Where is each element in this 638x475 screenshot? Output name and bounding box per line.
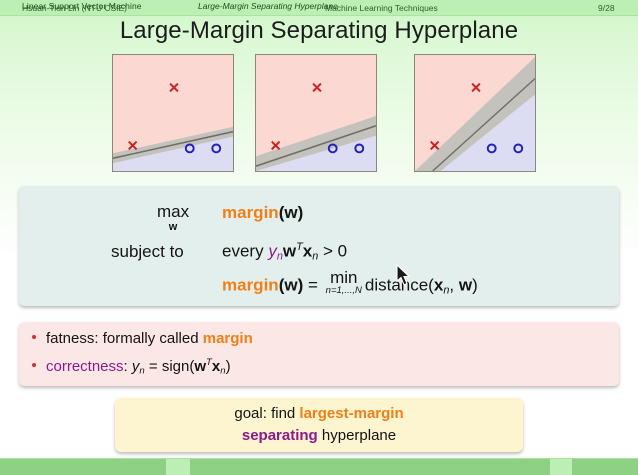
- constraint-w: w: [283, 242, 296, 261]
- correctness-close-paren: ): [226, 358, 231, 375]
- goal-highlight-largest-margin: largest-margin: [299, 405, 403, 422]
- constraint-label: subject to: [111, 242, 184, 262]
- page-title: Large-Margin Separating Hyperplane: [0, 17, 638, 45]
- constraint-x-sub: n: [312, 250, 318, 262]
- margin-def-arg-w: w: [284, 275, 297, 294]
- bullet-dot-icon: [32, 363, 36, 367]
- medium-margin-figure: [256, 55, 376, 171]
- narrow-margin-panel: [112, 54, 234, 172]
- distance-close-paren: ): [472, 275, 478, 294]
- bullet-dot-icon: [32, 335, 36, 339]
- header-subsection-title: Large-Margin Separating Hyperplane: [198, 1, 338, 11]
- margin-fn: margin: [222, 203, 279, 222]
- correctness-y-sub: n: [139, 365, 144, 376]
- margin-def-equals: =: [308, 275, 318, 294]
- constraint-transpose: T: [296, 241, 303, 253]
- min-text: min: [326, 270, 362, 286]
- fatness-text: fatness: formally called: [46, 330, 203, 347]
- every-text: every: [222, 242, 264, 261]
- slide-root: Linear Support Vector Machine Large-Marg…: [0, 0, 638, 475]
- goal-highlight-separating: separating: [242, 427, 318, 444]
- correctness-label: correctness: [46, 358, 124, 375]
- footer-course: Machine Learning Techniques: [325, 3, 438, 13]
- footer-segment-left: [0, 459, 166, 475]
- margin-definition: margin(w) = min n=1,...,N distance(xn, w…: [222, 270, 478, 296]
- footer-author: Hsuan-Tien Lin (NTU CSIE): [22, 3, 127, 13]
- large-margin-panel: [414, 54, 536, 172]
- min-operator: min n=1,...,N: [326, 270, 362, 296]
- correctness-sign-fn: = sign(: [149, 358, 194, 375]
- fatness-highlight-margin: margin: [203, 330, 253, 347]
- medium-margin-panel: [255, 54, 377, 172]
- footer-bar: [0, 458, 638, 475]
- constraint-expression: every ynwTxn > 0: [222, 241, 347, 262]
- goal-prefix: goal: find: [234, 405, 299, 422]
- distance-comma: ,: [449, 275, 458, 294]
- constraint-y: y: [268, 242, 277, 261]
- min-subscript: n=1,...,N: [326, 286, 362, 296]
- distance-arg-w: w: [459, 275, 472, 294]
- correctness-w: w: [194, 358, 206, 375]
- footer-segment-center: [190, 459, 550, 475]
- bullet-fatness: fatness: formally called margin: [32, 330, 253, 347]
- large-margin-figure: [415, 55, 535, 171]
- margin-def-fn: margin: [222, 275, 279, 294]
- footer-segment-right: [572, 459, 638, 475]
- objective-label: max w: [157, 202, 189, 232]
- narrow-margin-figure: [113, 55, 233, 171]
- bullet-correctness: correctness: yn = sign(wTxn): [32, 357, 231, 376]
- distance-fn: distance(: [365, 275, 434, 294]
- correctness-x: x: [212, 358, 220, 375]
- goal-suffix: hyperplane: [318, 427, 396, 444]
- hyperplane-illustrations: [0, 54, 638, 178]
- distance-arg-x: x: [434, 275, 443, 294]
- objective-expression: margin(w): [222, 203, 303, 223]
- max-text: max: [157, 202, 189, 221]
- goal-line-1: goal: find largest-margin: [115, 405, 523, 422]
- constraint-x: x: [303, 242, 312, 261]
- max-subscript-w: w: [157, 223, 189, 232]
- footer-page-number: 9/28: [598, 3, 615, 13]
- goal-line-2: separating hyperplane: [115, 427, 523, 444]
- margin-arg-w: w: [284, 203, 297, 222]
- constraint-relation: > 0: [323, 242, 347, 261]
